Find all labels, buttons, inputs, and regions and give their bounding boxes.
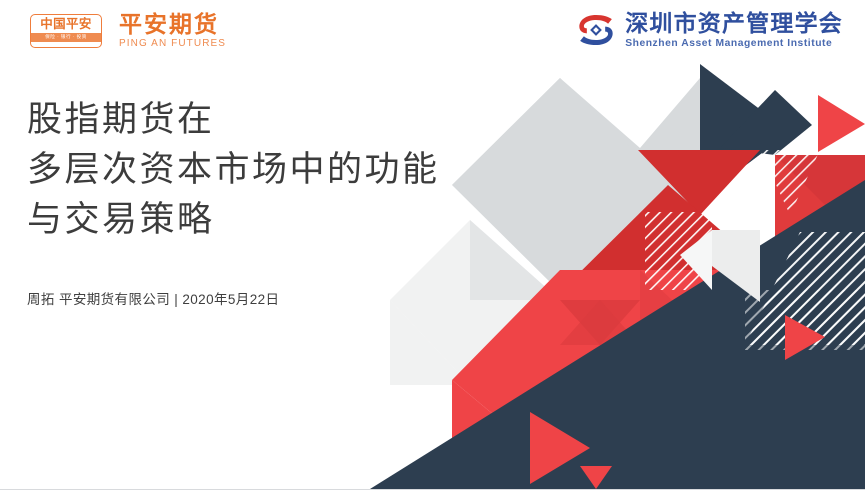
title-slide: 中国平安 保险 · 银行 · 投资 平安期货 PING AN FUTURES 深… — [0, 0, 865, 490]
geometric-artwork — [0, 0, 865, 490]
szami-wordmark-cn: 深圳市资产管理学会 — [625, 11, 843, 36]
shenzhen-asset-management-institute-logo: 深圳市资产管理学会 Shenzhen Asset Management Inst… — [576, 10, 843, 50]
ping-an-wordmark-cn: 平安期货 — [119, 12, 226, 36]
ping-an-futures-logo: 中国平安 保险 · 银行 · 投资 平安期货 PING AN FUTURES — [30, 12, 226, 49]
szami-wordmark-en: Shenzhen Asset Management Institute — [625, 38, 843, 49]
ping-an-badge-text: 中国平安 — [40, 18, 92, 31]
ping-an-wordmark-en: PING AN FUTURES — [119, 38, 226, 49]
ping-an-wordmark: 平安期货 PING AN FUTURES — [119, 12, 226, 49]
ping-an-badge-subtext: 保险 · 银行 · 投资 — [31, 33, 101, 42]
byline: 周拓 平安期货有限公司 | 2020年5月22日 — [27, 288, 279, 308]
page-title: 股指期货在 多层次资本市场中的功能 与交易策略 — [27, 95, 440, 245]
ping-an-badge: 中国平安 保险 · 银行 · 投资 — [30, 14, 102, 48]
szami-wordmark: 深圳市资产管理学会 Shenzhen Asset Management Inst… — [625, 11, 843, 49]
szami-emblem-icon — [576, 10, 616, 50]
